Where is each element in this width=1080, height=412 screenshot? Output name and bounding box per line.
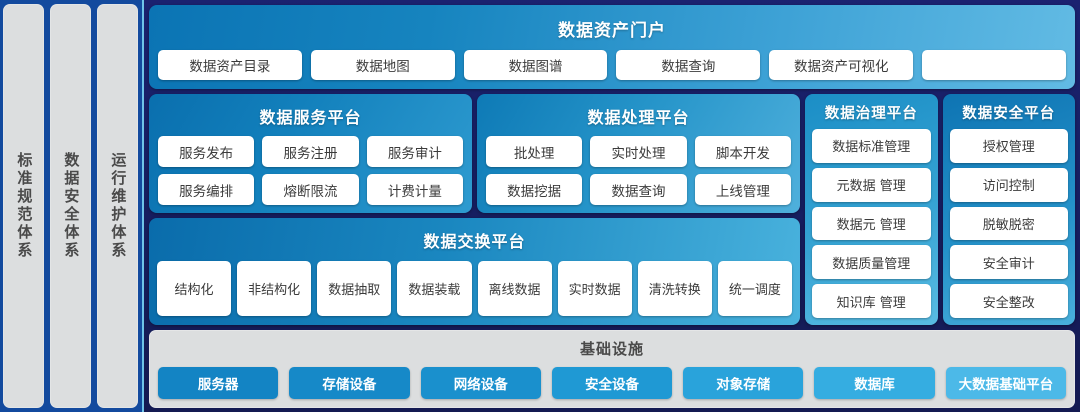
governance-item-data-standard-management[interactable]: 数据标准管理 <box>812 129 931 163</box>
processing-item-realtime[interactable]: 实时处理 <box>590 136 686 167</box>
portal-item-data-graph[interactable]: 数据图谱 <box>464 50 608 80</box>
service-item-service-register[interactable]: 服务注册 <box>262 136 358 167</box>
processing-item-data-mining[interactable]: 数据挖据 <box>486 174 582 205</box>
exchange-item-unstructured[interactable]: 非结构化 <box>237 261 311 316</box>
service-platform-items: 服务发布 服务注册 服务审计 服务编排 熔断限流 计费计量 <box>158 136 463 205</box>
processing-item-script-development[interactable]: 脚本开发 <box>695 136 791 167</box>
sidebar-item-operation-maintenance-system[interactable]: 运行维护体系 <box>97 4 138 408</box>
exchange-item-cleansing-transform[interactable]: 清洗转换 <box>638 261 712 316</box>
processing-platform-title: 数据处理平台 <box>486 104 791 128</box>
security-item-desensitization[interactable]: 脱敏脱密 <box>950 207 1069 241</box>
portal-title: 数据资产门户 <box>158 16 1066 41</box>
exchange-item-offline-data[interactable]: 离线数据 <box>478 261 552 316</box>
exchange-item-data-extraction[interactable]: 数据抽取 <box>317 261 391 316</box>
service-item-service-audit[interactable]: 服务审计 <box>367 136 463 167</box>
security-item-access-control[interactable]: 访问控制 <box>950 168 1069 202</box>
infrastructure-item-storage-device[interactable]: 存储设备 <box>289 367 409 399</box>
processing-platform-items: 批处理 实时处理 脚本开发 数据挖据 数据查询 上线管理 <box>486 136 791 205</box>
processing-platform-panel: 数据处理平台 批处理 实时处理 脚本开发 数据挖据 数据查询 上线管理 <box>477 94 800 213</box>
security-platform-title: 数据安全平台 <box>950 102 1069 123</box>
infrastructure-title: 基础设施 <box>158 338 1066 359</box>
processing-item-data-query[interactable]: 数据查询 <box>590 174 686 205</box>
portal-item-data-asset-catalog[interactable]: 数据资产目录 <box>158 50 302 80</box>
service-item-service-publish[interactable]: 服务发布 <box>158 136 254 167</box>
service-platform-title: 数据服务平台 <box>158 104 463 128</box>
portal-item-row: 数据资产目录 数据地图 数据图谱 数据查询 数据资产可视化 <box>158 50 1066 80</box>
portal-item-data-query[interactable]: 数据查询 <box>616 50 760 80</box>
exchange-platform-title: 数据交换平台 <box>157 228 792 252</box>
portal-item-data-asset-visualization[interactable]: 数据资产可视化 <box>769 50 913 80</box>
architecture-diagram: 标准规范体系 数据安全体系 运行维护体系 数据资产门户 数据资产目录 数据地图 … <box>0 0 1080 412</box>
exchange-item-structured[interactable]: 结构化 <box>157 261 231 316</box>
security-item-authorization-management[interactable]: 授权管理 <box>950 129 1069 163</box>
security-item-security-audit[interactable]: 安全审计 <box>950 245 1069 279</box>
security-item-security-rectification[interactable]: 安全整改 <box>950 284 1069 318</box>
platform-row-top: 数据服务平台 服务发布 服务注册 服务审计 服务编排 熔断限流 计费计量 数据处… <box>149 94 800 213</box>
exchange-platform-panel: 数据交换平台 结构化 非结构化 数据抽取 数据装载 离线数据 实时数据 清洗转换… <box>149 218 800 325</box>
service-item-circuit-breaker[interactable]: 熔断限流 <box>262 174 358 205</box>
portal-panel: 数据资产门户 数据资产目录 数据地图 数据图谱 数据查询 数据资产可视化 <box>149 5 1075 89</box>
processing-item-release-management[interactable]: 上线管理 <box>695 174 791 205</box>
governance-platform-title: 数据治理平台 <box>812 102 931 123</box>
infrastructure-item-database[interactable]: 数据库 <box>814 367 934 399</box>
infrastructure-item-server[interactable]: 服务器 <box>158 367 278 399</box>
exchange-platform-items: 结构化 非结构化 数据抽取 数据装载 离线数据 实时数据 清洗转换 统一调度 <box>157 261 792 316</box>
sidebar-item-standard-system[interactable]: 标准规范体系 <box>3 4 44 408</box>
governance-item-data-element-management[interactable]: 数据元 管理 <box>812 207 931 241</box>
infrastructure-item-network-device[interactable]: 网络设备 <box>421 367 541 399</box>
portal-item-data-map[interactable]: 数据地图 <box>311 50 455 80</box>
exchange-item-unified-scheduling[interactable]: 统一调度 <box>718 261 792 316</box>
main-frame: 数据资产门户 数据资产目录 数据地图 数据图谱 数据查询 数据资产可视化 数据服… <box>142 0 1080 412</box>
infrastructure-item-bigdata-platform[interactable]: 大数据基础平台 <box>946 367 1066 399</box>
sidebar-item-label: 数据安全体系 <box>63 152 79 260</box>
service-platform-panel: 数据服务平台 服务发布 服务注册 服务审计 服务编排 熔断限流 计费计量 <box>149 94 472 213</box>
portal-item-empty[interactable] <box>922 50 1066 80</box>
infrastructure-item-security-device[interactable]: 安全设备 <box>552 367 672 399</box>
security-platform-panel: 数据安全平台 授权管理 访问控制 脱敏脱密 安全审计 安全整改 <box>943 94 1076 325</box>
governance-platform-items: 数据标准管理 元数据 管理 数据元 管理 数据质量管理 知识库 管理 <box>812 129 931 318</box>
governance-item-knowledge-base-management[interactable]: 知识库 管理 <box>812 284 931 318</box>
middle-band: 数据服务平台 服务发布 服务注册 服务审计 服务编排 熔断限流 计费计量 数据处… <box>149 94 1075 325</box>
sidebar-item-data-security-system[interactable]: 数据安全体系 <box>50 4 91 408</box>
infrastructure-items: 服务器 存储设备 网络设备 安全设备 对象存储 数据库 大数据基础平台 <box>158 367 1066 399</box>
governance-platform-panel: 数据治理平台 数据标准管理 元数据 管理 数据元 管理 数据质量管理 知识库 管… <box>805 94 938 325</box>
exchange-item-data-loading[interactable]: 数据装载 <box>397 261 471 316</box>
sidebar-columns: 标准规范体系 数据安全体系 运行维护体系 <box>0 0 142 412</box>
infrastructure-panel: 基础设施 服务器 存储设备 网络设备 安全设备 对象存储 数据库 大数据基础平台 <box>149 330 1075 408</box>
governance-item-data-quality-management[interactable]: 数据质量管理 <box>812 245 931 279</box>
platform-column-left: 数据服务平台 服务发布 服务注册 服务审计 服务编排 熔断限流 计费计量 数据处… <box>149 94 800 325</box>
sidebar-item-label: 运行维护体系 <box>110 152 126 260</box>
processing-item-batch[interactable]: 批处理 <box>486 136 582 167</box>
sidebar-item-label: 标准规范体系 <box>16 152 32 260</box>
exchange-item-realtime-data[interactable]: 实时数据 <box>558 261 632 316</box>
service-item-service-orchestration[interactable]: 服务编排 <box>158 174 254 205</box>
infrastructure-item-object-storage[interactable]: 对象存储 <box>683 367 803 399</box>
governance-item-metadata-management[interactable]: 元数据 管理 <box>812 168 931 202</box>
platform-column-right: 数据治理平台 数据标准管理 元数据 管理 数据元 管理 数据质量管理 知识库 管… <box>805 94 1075 325</box>
service-item-billing-metering[interactable]: 计费计量 <box>367 174 463 205</box>
security-platform-items: 授权管理 访问控制 脱敏脱密 安全审计 安全整改 <box>950 129 1069 318</box>
